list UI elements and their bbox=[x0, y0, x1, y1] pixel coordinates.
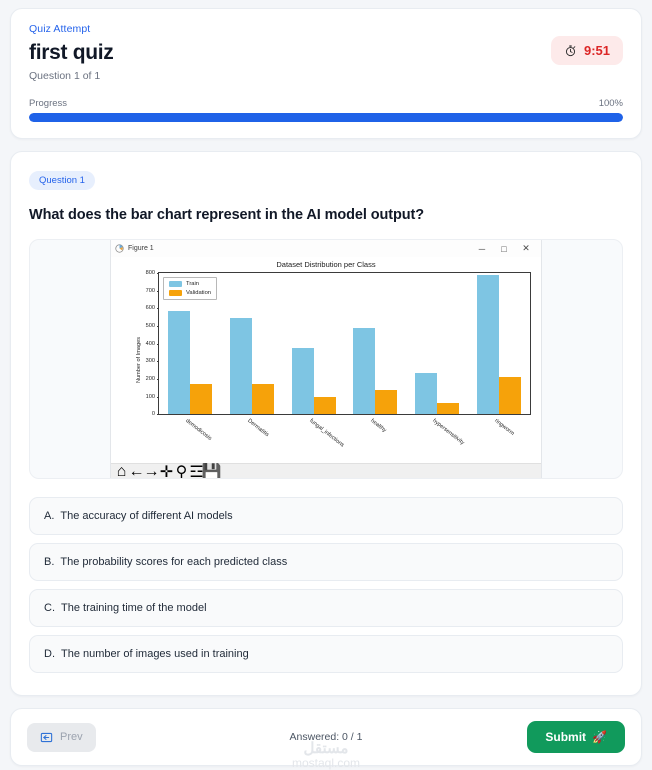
chart-bar-train bbox=[292, 348, 314, 414]
chart-title: Dataset Distribution per Class bbox=[111, 260, 541, 269]
progress-bar bbox=[29, 113, 623, 122]
chart-legend: Train Validation bbox=[163, 277, 217, 300]
prev-button-label: Prev bbox=[60, 731, 83, 743]
quiz-attempt-page: Quiz Attempt first quiz Question 1 of 1 … bbox=[0, 0, 652, 768]
chart-x-tick-label: demodicosis bbox=[184, 418, 212, 442]
answer-option-text: The number of images used in training bbox=[61, 648, 249, 660]
answer-option[interactable]: C.The training time of the model bbox=[29, 589, 623, 627]
answer-option[interactable]: B.The probability scores for each predic… bbox=[29, 543, 623, 581]
chart-bar-group: healthy bbox=[344, 273, 406, 414]
figure-canvas: Dataset Distribution per Class Number of… bbox=[111, 257, 541, 463]
minimize-icon[interactable]: ─ bbox=[471, 241, 493, 256]
chart-y-tick-label: 300 bbox=[146, 358, 159, 364]
figure-toolbar: ⌂ ← → ✛ ⚲ ☲ 💾 bbox=[111, 463, 541, 479]
chart-y-tick-label: 800 bbox=[146, 270, 159, 276]
forward-arrow-icon[interactable]: → bbox=[145, 466, 158, 479]
chart-bar-validation bbox=[437, 403, 459, 414]
breadcrumb[interactable]: Quiz Attempt bbox=[29, 23, 623, 35]
question-counter: Question 1 of 1 bbox=[29, 70, 623, 82]
timer-badge: 9:51 bbox=[551, 36, 623, 65]
answer-option-letter: D. bbox=[44, 648, 55, 660]
legend-item-train: Train bbox=[169, 281, 211, 287]
submit-button-label: Submit bbox=[545, 730, 586, 744]
chart-x-tick-label: Dermatitis bbox=[246, 418, 270, 438]
chart-bar-validation bbox=[499, 377, 521, 414]
answer-option-letter: B. bbox=[44, 556, 54, 568]
answer-option-text: The training time of the model bbox=[61, 602, 207, 614]
watermark-arabic: مستقل bbox=[292, 739, 360, 757]
chart-y-tick-label: 200 bbox=[146, 376, 159, 382]
progress-label: Progress bbox=[29, 98, 67, 109]
progress-value: 100% bbox=[599, 98, 623, 109]
chart-y-axis-label: Number of Images bbox=[136, 337, 142, 383]
chart-bar-group: fungal_infections bbox=[283, 273, 345, 414]
timer-value: 9:51 bbox=[584, 43, 610, 58]
chart-bar-train bbox=[477, 275, 499, 414]
prev-button[interactable]: Prev bbox=[27, 723, 96, 752]
window-controls: ─ □ ✕ bbox=[471, 241, 537, 256]
chart-y-tick-label: 600 bbox=[146, 305, 159, 311]
chart-bar-validation bbox=[314, 397, 336, 414]
answer-option-letter: C. bbox=[44, 602, 55, 614]
chart-y-tick-label: 0 bbox=[152, 411, 159, 417]
answer-option-text: The probability scores for each predicte… bbox=[60, 556, 287, 568]
chart-bar-train bbox=[230, 318, 252, 414]
matplotlib-icon bbox=[115, 244, 124, 253]
answer-option-letter: A. bbox=[44, 510, 54, 522]
question-badge: Question 1 bbox=[29, 171, 95, 190]
chart-plot-area: 0100200300400500600700800 demodicosisDer… bbox=[158, 272, 531, 415]
chart-y-tick-label: 400 bbox=[146, 341, 159, 347]
chart-bar-group: ringworm bbox=[468, 273, 530, 414]
chart-x-tick-label: hypersensitivity bbox=[432, 418, 466, 446]
answer-option[interactable]: A.The accuracy of different AI models bbox=[29, 497, 623, 535]
submit-button[interactable]: Submit 🚀 bbox=[527, 721, 625, 753]
chart-bar-train bbox=[415, 373, 437, 414]
zoom-magnifier-icon[interactable]: ⚲ bbox=[175, 466, 188, 479]
page-title: first quiz bbox=[29, 41, 623, 65]
legend-label-validation: Validation bbox=[186, 290, 211, 296]
legend-swatch-train bbox=[169, 281, 182, 287]
chart-bar-validation bbox=[190, 384, 212, 414]
pan-move-icon[interactable]: ✛ bbox=[160, 466, 173, 479]
rocket-icon: 🚀 bbox=[592, 730, 607, 744]
question-image-frame: Figure 1 ─ □ ✕ Dataset Distribution per … bbox=[29, 239, 623, 479]
question-text: What does the bar chart represent in the… bbox=[29, 207, 623, 223]
watermark: مستقل mostaql.com bbox=[292, 739, 360, 770]
chart-bar-validation bbox=[375, 390, 397, 414]
progress-bar-fill bbox=[29, 113, 623, 122]
quiz-header-card: Quiz Attempt first quiz Question 1 of 1 … bbox=[10, 8, 642, 139]
chart-y-tick-label: 100 bbox=[146, 394, 159, 400]
save-disk-icon[interactable]: 💾 bbox=[205, 466, 218, 479]
chart-y-tick-label: 500 bbox=[146, 323, 159, 329]
chart-x-tick-label: healthy bbox=[370, 418, 388, 434]
answer-option[interactable]: D.The number of images used in training bbox=[29, 635, 623, 673]
chart-x-tick-label: fungal_infections bbox=[308, 418, 345, 449]
stopwatch-icon bbox=[564, 44, 577, 57]
legend-label-train: Train bbox=[186, 281, 199, 287]
chart-bar-group: hypersensitivity bbox=[406, 273, 468, 414]
legend-item-validation: Validation bbox=[169, 290, 211, 296]
answer-options-list: A.The accuracy of different AI modelsB.T… bbox=[29, 497, 623, 673]
chart-x-tick-label: ringworm bbox=[493, 418, 515, 437]
chart-bar-train bbox=[168, 311, 190, 414]
chart-bar-train bbox=[353, 328, 375, 414]
chart-bar-group: Dermatitis bbox=[221, 273, 283, 414]
back-arrow-icon[interactable]: ← bbox=[130, 466, 143, 479]
answer-option-text: The accuracy of different AI models bbox=[60, 510, 232, 522]
figure-window-title: Figure 1 bbox=[128, 245, 154, 252]
quiz-footer-card: Prev Answered: 0 / 1 مستقل mostaql.com S… bbox=[10, 708, 642, 766]
question-card: Question 1 What does the bar chart repre… bbox=[10, 151, 642, 696]
chart-y-tick-label: 700 bbox=[146, 288, 159, 294]
previous-arrow-icon bbox=[40, 731, 53, 744]
chart-bar-validation bbox=[252, 384, 274, 414]
home-icon[interactable]: ⌂ bbox=[115, 466, 128, 479]
matplotlib-figure-window: Figure 1 ─ □ ✕ Dataset Distribution per … bbox=[111, 240, 541, 479]
progress-section: Progress 100% bbox=[29, 98, 623, 122]
figure-title-bar: Figure 1 ─ □ ✕ bbox=[111, 240, 541, 257]
maximize-icon[interactable]: □ bbox=[493, 241, 515, 256]
close-icon[interactable]: ✕ bbox=[515, 241, 537, 256]
legend-swatch-validation bbox=[169, 290, 182, 296]
